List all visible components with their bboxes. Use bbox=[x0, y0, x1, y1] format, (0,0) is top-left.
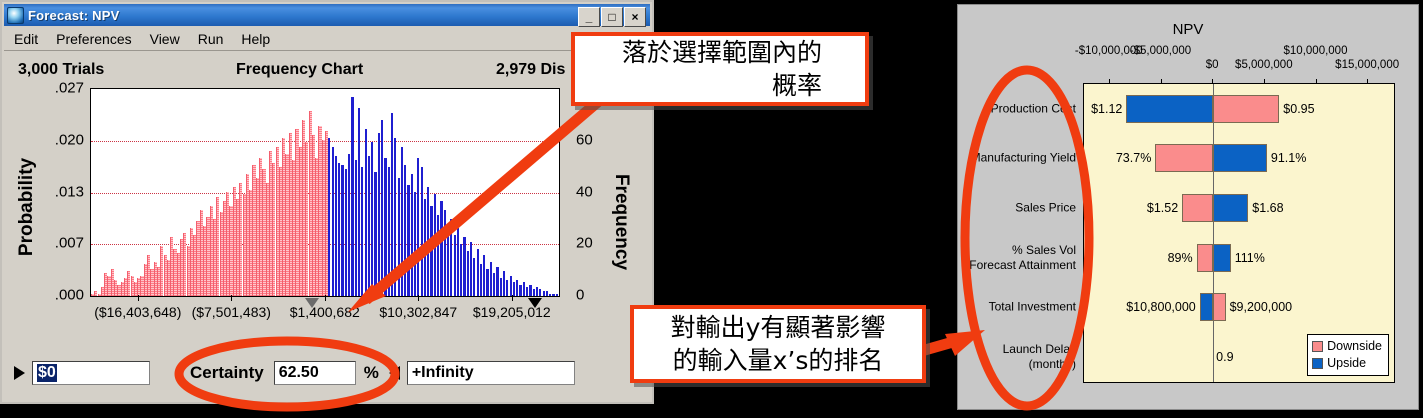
certainty-input[interactable]: 62.50 bbox=[274, 361, 356, 385]
histogram-bar bbox=[506, 280, 508, 296]
tornado-value-left: $10,800,000 bbox=[1126, 300, 1196, 314]
tornado-value-left: 89% bbox=[1168, 251, 1193, 265]
menu-bar: Edit Preferences View Run Help bbox=[4, 28, 650, 51]
tornado-value-left: 73.7% bbox=[1116, 151, 1151, 165]
tornado-x-tick-label: $10,000,000 bbox=[1280, 45, 1352, 58]
tornado-x-tick-label: -$5,000,000 bbox=[1125, 45, 1197, 58]
histogram-bar bbox=[341, 165, 343, 296]
tornado-value-left: 0.9 bbox=[1216, 350, 1233, 364]
tornado-bar-down bbox=[1182, 194, 1213, 222]
close-button[interactable]: × bbox=[624, 7, 646, 27]
histogram-bar bbox=[510, 276, 512, 296]
tornado-x-tick-label: $15,000,000 bbox=[1331, 59, 1403, 72]
histogram-bar bbox=[440, 201, 442, 296]
histogram-bar bbox=[371, 142, 373, 296]
y-tick-right: 20 bbox=[576, 235, 593, 252]
histogram-bar bbox=[470, 242, 472, 296]
histogram-bar bbox=[421, 167, 423, 296]
callout-certainty: 落於選擇範圍內的 概率 bbox=[571, 32, 869, 106]
histogram-bar bbox=[513, 282, 515, 296]
x-tick-label: ($7,501,483) bbox=[192, 304, 271, 320]
tornado-row: Manufacturing Yield73.7%91.1% bbox=[1084, 134, 1394, 184]
histogram-bar bbox=[391, 113, 393, 296]
histogram-bar bbox=[490, 262, 492, 296]
histogram-bar bbox=[378, 133, 380, 296]
histogram-bar bbox=[328, 138, 330, 296]
histogram-bar bbox=[493, 273, 495, 296]
y-tick-right: 60 bbox=[576, 131, 593, 148]
x-tick-label: $10,302,847 bbox=[379, 304, 457, 320]
histogram-bar bbox=[454, 235, 456, 296]
tornado-bar-up bbox=[1126, 95, 1213, 123]
tornado-row-label: % Sales VolForecast Attainment bbox=[969, 243, 1076, 273]
legend-swatch bbox=[1312, 341, 1323, 352]
histogram-bar bbox=[338, 163, 340, 296]
maximize-button[interactable]: □ bbox=[601, 7, 623, 27]
tornado-bar-down bbox=[1213, 293, 1225, 321]
tornado-bar-up bbox=[1200, 293, 1213, 321]
histogram-bar bbox=[358, 108, 360, 296]
y-tick-left: .027 bbox=[55, 80, 84, 97]
tornado-bar-up bbox=[1213, 144, 1267, 172]
histogram-bar bbox=[348, 154, 350, 296]
legend-item: Downside bbox=[1312, 338, 1382, 355]
histogram-bar bbox=[467, 251, 469, 296]
x-tick bbox=[418, 295, 419, 301]
histogram-bar bbox=[355, 160, 357, 296]
x-axis-ticks bbox=[90, 295, 560, 302]
x-tick bbox=[231, 295, 232, 301]
histogram-bar bbox=[417, 158, 419, 296]
histogram-bar bbox=[345, 169, 347, 296]
histogram-bar bbox=[384, 158, 386, 296]
x-axis-labels: ($16,403,648)($7,501,483)$1,400,682$10,3… bbox=[8, 304, 648, 326]
range-controls-bar: $0 Certainty 62.50 % +Infinity bbox=[6, 354, 650, 392]
trials-count: 3,000 Trials bbox=[18, 61, 104, 79]
tornado-bar-down bbox=[1213, 95, 1279, 123]
menu-item-edit[interactable]: Edit bbox=[14, 31, 38, 47]
histogram-bar bbox=[486, 269, 488, 296]
y-tick-left: .007 bbox=[55, 235, 84, 252]
tornado-value-right: 91.1% bbox=[1271, 151, 1306, 165]
x-tick bbox=[512, 295, 513, 301]
tornado-value-right: $1.68 bbox=[1252, 201, 1283, 215]
tornado-row-label: Sales Price bbox=[1015, 201, 1076, 216]
histogram-bar bbox=[361, 167, 363, 296]
range-grabber-right[interactable] bbox=[528, 298, 542, 308]
histogram-bar bbox=[414, 192, 416, 296]
histogram-bar bbox=[404, 165, 406, 296]
histogram-bar bbox=[427, 187, 429, 296]
histogram-bar bbox=[430, 206, 432, 296]
histogram-bar bbox=[460, 244, 462, 296]
displayed-count: 2,979 Dis bbox=[496, 61, 565, 79]
tornado-value-right: 111% bbox=[1235, 251, 1265, 265]
tornado-value-left: $1.52 bbox=[1147, 201, 1178, 215]
y-tick-right: 0 bbox=[576, 287, 584, 304]
tornado-value-right: $0.95 bbox=[1283, 102, 1314, 116]
histogram-bar bbox=[335, 156, 337, 296]
histogram-bar bbox=[444, 210, 446, 296]
tornado-x-axis-labels: -$10,000,000-$5,000,000$0$5,000,000$10,0… bbox=[958, 45, 1420, 79]
histogram-bar bbox=[398, 178, 400, 296]
tornado-value-left: $1.12 bbox=[1091, 102, 1122, 116]
callout-certainty-line2: 概率 bbox=[618, 69, 826, 102]
histogram-bar bbox=[503, 271, 505, 296]
percent-symbol: % bbox=[364, 363, 379, 383]
menu-item-preferences[interactable]: Preferences bbox=[56, 31, 131, 47]
y-axis-right-ticks: 806040200 bbox=[572, 82, 608, 297]
histogram-bar bbox=[447, 226, 449, 296]
histogram-bar bbox=[437, 215, 439, 296]
histogram-plot-area[interactable] bbox=[90, 88, 560, 297]
histogram-bar bbox=[388, 167, 390, 296]
upper-bound-arrow-icon[interactable] bbox=[389, 366, 400, 380]
histogram-bar bbox=[523, 282, 525, 296]
forecast-window: Forecast: NPV _ □ × Edit Preferences Vie… bbox=[0, 0, 654, 404]
histogram-bar bbox=[368, 156, 370, 296]
window-controls: _ □ × bbox=[577, 7, 646, 27]
callout-tornado-line1: 對輸出y有顯著影響 bbox=[671, 311, 886, 344]
histogram-bar bbox=[351, 97, 353, 296]
x-tick-label: $1,400,682 bbox=[290, 304, 360, 320]
y-axis-right-label: Frequency bbox=[608, 132, 634, 312]
lower-bound-arrow-icon[interactable] bbox=[14, 366, 25, 380]
tornado-bar-down bbox=[1155, 144, 1213, 172]
tornado-row: Total Investment$10,800,000$9,200,000 bbox=[1084, 283, 1394, 333]
y-tick-left: .000 bbox=[55, 287, 84, 304]
histogram-bar bbox=[407, 185, 409, 296]
tornado-value-right: $9,200,000 bbox=[1230, 300, 1293, 314]
y-axis-left-label-text: Probability bbox=[16, 158, 38, 256]
tornado-legend: DownsideUpside bbox=[1307, 334, 1389, 376]
tornado-chart-title: NPV bbox=[958, 21, 1418, 38]
window-titlebar[interactable]: Forecast: NPV _ □ × bbox=[4, 4, 650, 26]
tornado-bar-down bbox=[1197, 244, 1214, 272]
histogram-bar bbox=[434, 194, 436, 296]
menu-item-view[interactable]: View bbox=[150, 31, 180, 47]
histogram-bar bbox=[477, 249, 479, 296]
histogram-bar bbox=[394, 138, 396, 296]
y-tick-left: .013 bbox=[55, 183, 84, 200]
histogram-bar bbox=[332, 147, 334, 296]
callout-tornado: 對輸出y有顯著影響 的輸入量x’s的排名 bbox=[630, 305, 926, 383]
histogram-bar bbox=[381, 120, 383, 296]
lower-bound-value: $0 bbox=[37, 364, 57, 382]
histogram-bar bbox=[483, 255, 485, 296]
legend-item: Upside bbox=[1312, 355, 1382, 372]
histogram-bar bbox=[516, 280, 518, 296]
legend-label: Downside bbox=[1327, 338, 1382, 355]
tornado-plot-area: Production Cost$1.12$0.95Manufacturing Y… bbox=[1083, 83, 1395, 383]
histogram-bar bbox=[401, 147, 403, 296]
chart-title: Frequency Chart bbox=[236, 61, 363, 79]
tornado-row: Production Cost$1.12$0.95 bbox=[1084, 84, 1394, 134]
x-tick bbox=[325, 295, 326, 301]
histogram-bar bbox=[457, 228, 459, 296]
tornado-row-label: Production Cost bbox=[991, 101, 1076, 116]
x-tick-label: ($16,403,648) bbox=[94, 304, 181, 320]
lower-bound-input[interactable]: $0 bbox=[32, 361, 150, 385]
tornado-bar-up bbox=[1213, 244, 1231, 272]
histogram-bar bbox=[473, 258, 475, 296]
legend-label: Upside bbox=[1327, 355, 1366, 372]
histogram-bar bbox=[424, 199, 426, 296]
histogram-bar bbox=[480, 264, 482, 296]
chart-header: 3,000 Trials Frequency Chart 2,979 Dis bbox=[8, 58, 648, 82]
crystal-ball-icon bbox=[7, 7, 24, 24]
window-title: Forecast: NPV bbox=[28, 8, 119, 23]
y-tick-right: 40 bbox=[576, 183, 593, 200]
tornado-chart-window: NPV -$10,000,000-$5,000,000$0$5,000,000$… bbox=[957, 4, 1419, 410]
tornado-row-label: Manufacturing Yield bbox=[971, 151, 1076, 166]
menu-item-help[interactable]: Help bbox=[241, 31, 270, 47]
tornado-x-tick-label: $5,000,000 bbox=[1228, 59, 1300, 72]
histogram-bar bbox=[500, 278, 502, 296]
upper-bound-input[interactable]: +Infinity bbox=[407, 361, 575, 385]
callout-tornado-line2: 的輸入量x’s的排名 bbox=[671, 344, 886, 377]
y-tick-left: .020 bbox=[55, 131, 84, 148]
x-tick bbox=[138, 295, 139, 301]
tornado-bar-up bbox=[1213, 194, 1248, 222]
minimize-button[interactable]: _ bbox=[578, 7, 600, 27]
tornado-row: Sales Price$1.52$1.68 bbox=[1084, 183, 1394, 233]
histogram-bar bbox=[374, 172, 376, 296]
y-axis-left-ticks: .027.020.013.007.000 bbox=[36, 82, 88, 297]
y-axis-right-label-text: Frequency bbox=[610, 174, 632, 270]
histogram-bar bbox=[496, 267, 498, 296]
tornado-row-label: Launch Delay(months) bbox=[1003, 342, 1076, 372]
tornado-row: % Sales VolForecast Attainment89%111% bbox=[1084, 233, 1394, 283]
histogram-bar bbox=[365, 129, 367, 296]
histogram-bar bbox=[450, 219, 452, 296]
histogram-bar bbox=[411, 174, 413, 296]
menu-item-run[interactable]: Run bbox=[198, 31, 224, 47]
legend-swatch bbox=[1312, 358, 1323, 369]
certainty-label: Certainty bbox=[190, 363, 264, 383]
callout-certainty-line1: 落於選擇範圍內的 bbox=[618, 36, 826, 69]
range-grabber-left[interactable] bbox=[305, 298, 319, 308]
histogram-bar bbox=[463, 237, 465, 296]
tornado-row-label: Total Investment bbox=[989, 300, 1076, 315]
